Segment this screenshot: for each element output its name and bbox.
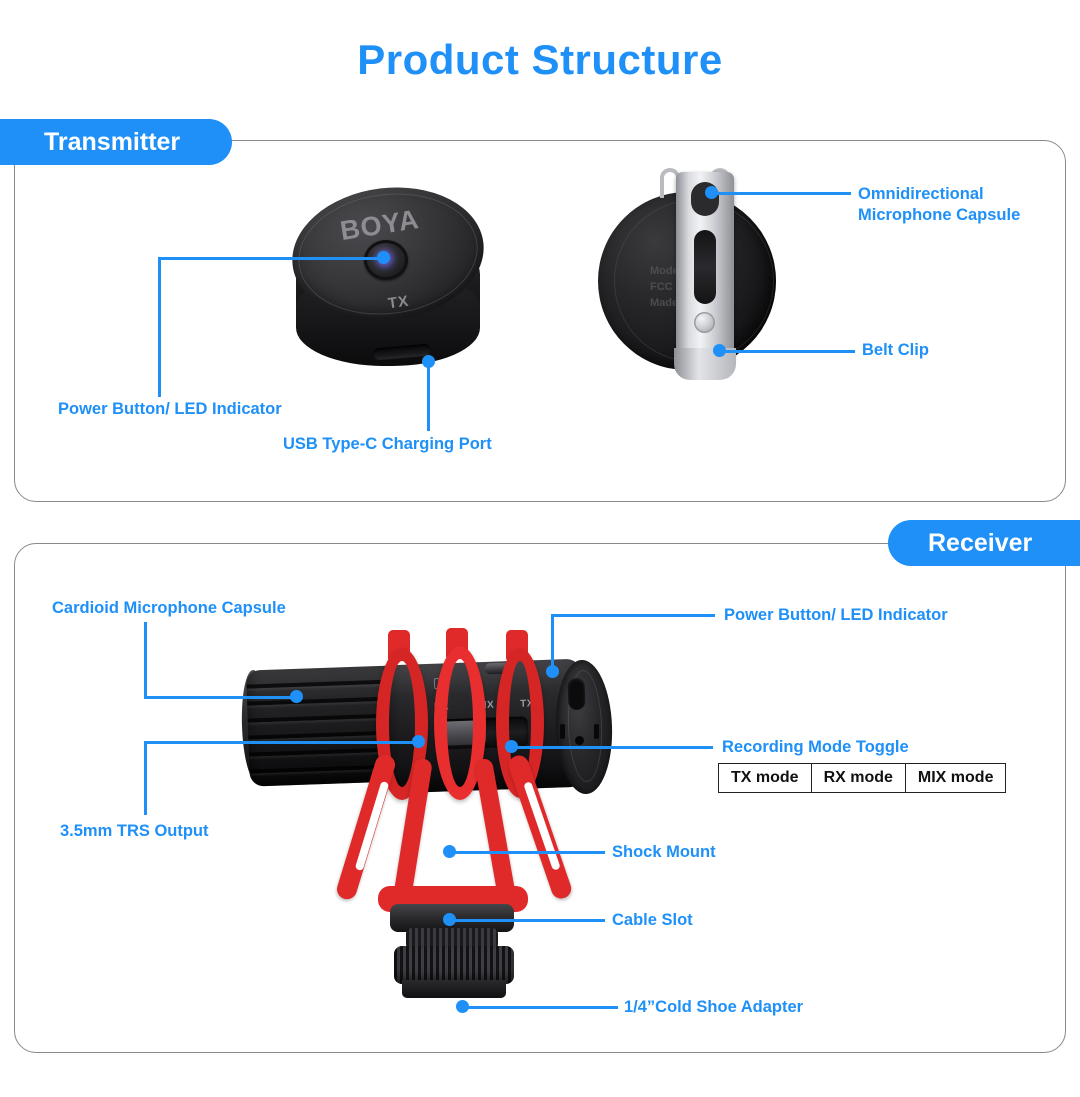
- transmitter-section-tab[interactable]: Transmitter: [0, 119, 232, 165]
- callout-label-omni-capsule: Omnidirectional Microphone Capsule: [858, 184, 1020, 227]
- receiver-end-pin-left: [560, 724, 565, 739]
- callout-label-belt-clip: Belt Clip: [862, 340, 929, 361]
- callout-label-mode-toggle: Recording Mode Toggle: [722, 737, 909, 758]
- callout-line-receiver-power-v: [551, 614, 554, 670]
- belt-clip-slot: [694, 230, 716, 304]
- callout-label-cardioid-capsule: Cardioid Microphone Capsule: [52, 598, 286, 619]
- callout-label-power-button: Power Button/ LED Indicator: [58, 399, 282, 420]
- mode-table-cell-tx: TX mode: [719, 764, 812, 792]
- transmitter-back-view-illustration: Model: FCC ID: Made in: [598, 172, 788, 394]
- callout-line-trs-output-h: [144, 741, 416, 744]
- callout-label-cable-slot: Cable Slot: [612, 910, 693, 931]
- cold-shoe-foot: [402, 980, 506, 998]
- callout-line-power-button-h: [158, 257, 382, 260]
- callout-label-shock-mount: Shock Mount: [612, 842, 716, 863]
- page-title: Product Structure: [0, 36, 1080, 84]
- callout-label-omni-capsule-line2: Microphone Capsule: [858, 205, 1020, 226]
- callout-line-shock-mount-h: [449, 851, 605, 854]
- callout-line-cardioid-capsule-v: [144, 622, 147, 698]
- receiver-section-label: Receiver: [928, 529, 1032, 558]
- transmitter-section-label: Transmitter: [44, 128, 180, 157]
- callout-line-omni-capsule-h: [711, 192, 851, 195]
- grille-rib: [247, 679, 397, 688]
- callout-line-power-button-v: [158, 257, 161, 397]
- callout-line-usb-port-v: [427, 361, 430, 431]
- callout-line-cardioid-capsule-h: [144, 696, 294, 699]
- callout-line-trs-output-v: [144, 741, 147, 815]
- receiver-end-cap-notch: [567, 678, 585, 711]
- callout-line-cold-shoe-h: [462, 1006, 618, 1009]
- callout-line-cable-slot-h: [449, 919, 605, 922]
- mode-table-cell-rx: RX mode: [812, 764, 906, 792]
- receiver-end-pin-right: [594, 724, 599, 739]
- callout-label-cold-shoe: 1/4”Cold Shoe Adapter: [624, 997, 803, 1018]
- receiver-section-tab[interactable]: Receiver: [888, 520, 1080, 566]
- callout-line-receiver-power-h: [551, 614, 715, 617]
- cold-shoe-knurled-ring: [394, 946, 514, 984]
- mode-table-cell-mix: MIX mode: [906, 764, 1006, 792]
- callout-line-belt-clip-h: [719, 350, 855, 353]
- callout-label-receiver-power-button: Power Button/ LED Indicator: [724, 605, 948, 626]
- callout-line-mode-toggle-h: [511, 746, 713, 749]
- callout-label-omni-capsule-line1: Omnidirectional: [858, 184, 1020, 205]
- belt-clip-screw-icon: [694, 312, 715, 333]
- recording-mode-table: TX mode RX mode MIX mode: [718, 763, 1006, 793]
- trs-output-jack: [575, 736, 584, 745]
- callout-label-trs-output: 3.5mm TRS Output: [60, 821, 209, 842]
- transmitter-top-view-illustration: BOYA TX: [288, 178, 488, 386]
- callout-label-usb-port: USB Type-C Charging Port: [283, 434, 492, 455]
- transmitter-unit-label: TX: [387, 293, 410, 313]
